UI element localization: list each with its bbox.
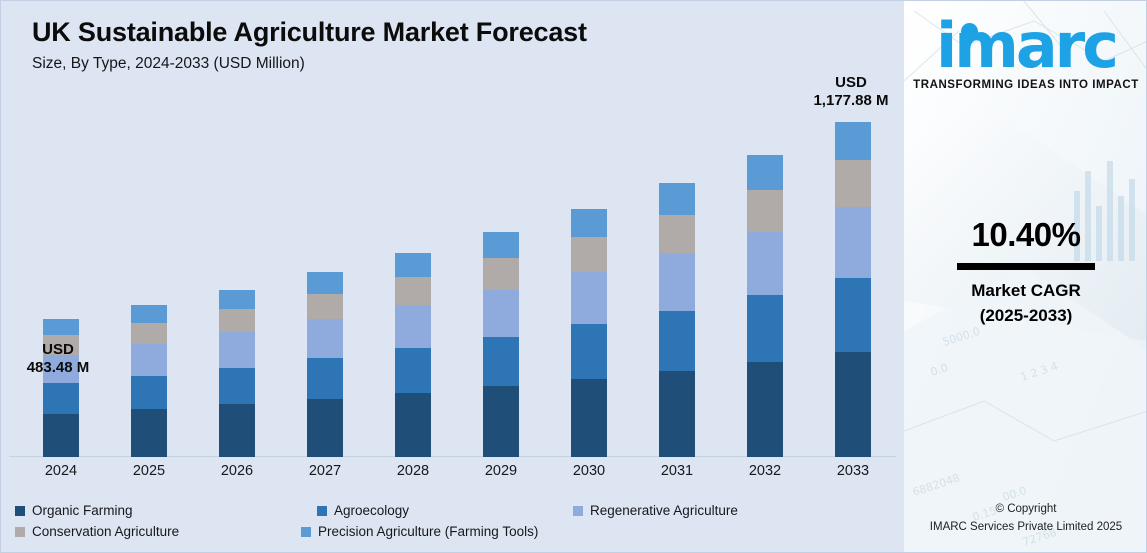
x-axis-label-2031: 2031 bbox=[647, 463, 707, 479]
x-axis-label-2032: 2032 bbox=[735, 463, 795, 479]
bar-segment[interactable] bbox=[747, 362, 783, 457]
bar-stack-2026[interactable] bbox=[219, 290, 255, 457]
bar-segment[interactable] bbox=[747, 155, 783, 190]
bar-segment[interactable] bbox=[747, 190, 783, 232]
page-subtitle: Size, By Type, 2024-2033 (USD Million) bbox=[32, 55, 872, 73]
bar-segment[interactable] bbox=[483, 386, 519, 457]
bar-segment[interactable] bbox=[395, 277, 431, 306]
cagr-divider bbox=[957, 263, 1095, 270]
bar-stack-2030[interactable] bbox=[571, 209, 607, 457]
x-axis-label-2029: 2029 bbox=[471, 463, 531, 479]
cagr-value: 10.40% bbox=[904, 216, 1147, 254]
bar-segment[interactable] bbox=[571, 272, 607, 324]
imarc-wordmark: imarc bbox=[936, 9, 1116, 82]
bar-segment[interactable] bbox=[219, 404, 255, 457]
bar-segment[interactable] bbox=[395, 305, 431, 348]
legend-item[interactable]: Conservation Agriculture bbox=[15, 524, 179, 539]
legend-swatch-icon bbox=[301, 527, 311, 537]
bar-segment[interactable] bbox=[571, 379, 607, 457]
bar-segment[interactable] bbox=[43, 414, 79, 457]
bar-segment[interactable] bbox=[219, 309, 255, 332]
bar-segment[interactable] bbox=[571, 324, 607, 379]
legend-label: Precision Agriculture (Farming Tools) bbox=[318, 524, 538, 539]
bar-stack-2029[interactable] bbox=[483, 232, 519, 457]
bar-segment[interactable] bbox=[307, 399, 343, 457]
title-block: UK Sustainable Agriculture Market Foreca… bbox=[32, 17, 872, 73]
bar-segment[interactable] bbox=[43, 319, 79, 335]
x-axis-label-2027: 2027 bbox=[295, 463, 355, 479]
cagr-block: 10.40% Market CAGR (2025-2033) bbox=[904, 216, 1147, 326]
bar-segment[interactable] bbox=[747, 232, 783, 295]
bar-segment[interactable] bbox=[307, 358, 343, 399]
bar-segment[interactable] bbox=[395, 253, 431, 277]
bar-segment[interactable] bbox=[483, 258, 519, 289]
bar-segment[interactable] bbox=[131, 305, 167, 323]
callout-currency: USD bbox=[0, 341, 123, 359]
plot-area bbox=[1, 101, 904, 457]
bar-segment[interactable] bbox=[307, 294, 343, 320]
copyright-line-1: © Copyright bbox=[904, 501, 1147, 519]
bar-segment[interactable] bbox=[835, 207, 871, 277]
legend-swatch-icon bbox=[15, 527, 25, 537]
x-axis-label-2028: 2028 bbox=[383, 463, 443, 479]
bar-segment[interactable] bbox=[131, 376, 167, 409]
bar-segment[interactable] bbox=[483, 290, 519, 337]
bar-segment[interactable] bbox=[483, 337, 519, 387]
bar-segment[interactable] bbox=[659, 183, 695, 215]
bar-stack-2028[interactable] bbox=[395, 253, 431, 457]
callout-currency: USD bbox=[786, 74, 916, 92]
x-axis-label-2024: 2024 bbox=[31, 463, 91, 479]
chart-legend: Organic FarmingAgroecologyRegenerative A… bbox=[1, 497, 904, 547]
imarc-logo-dot-icon bbox=[961, 23, 978, 40]
bar-segment[interactable] bbox=[395, 393, 431, 457]
brand-panel: 5000.0 0.0 1 2 3 4 6882048 0.15 72768 00… bbox=[904, 1, 1147, 553]
x-axis-labels: 2024202520262027202820292030203120322033 bbox=[1, 463, 904, 489]
bar-stack-2032[interactable] bbox=[747, 155, 783, 457]
cagr-label: Market CAGR bbox=[904, 281, 1147, 301]
bar-segment[interactable] bbox=[219, 290, 255, 309]
bar-stack-2031[interactable] bbox=[659, 183, 695, 457]
bar-segment[interactable] bbox=[659, 371, 695, 457]
bar-segment[interactable] bbox=[131, 323, 167, 344]
callout-amount: 483.48 M bbox=[0, 359, 123, 377]
bar-segment[interactable] bbox=[659, 253, 695, 311]
bar-segment[interactable] bbox=[835, 278, 871, 352]
bar-segment[interactable] bbox=[131, 344, 167, 376]
x-axis-label-2025: 2025 bbox=[119, 463, 179, 479]
x-axis-label-2026: 2026 bbox=[207, 463, 267, 479]
legend-swatch-icon bbox=[317, 506, 327, 516]
bar-segment[interactable] bbox=[307, 319, 343, 358]
bar-segment[interactable] bbox=[219, 368, 255, 405]
bar-stack-2025[interactable] bbox=[131, 305, 167, 457]
value-callout-2024: USD 483.48 M bbox=[0, 341, 123, 376]
bar-stack-2033[interactable] bbox=[835, 122, 871, 457]
chart-panel: UK Sustainable Agriculture Market Foreca… bbox=[1, 1, 904, 553]
chart-infographic: UK Sustainable Agriculture Market Foreca… bbox=[0, 0, 1147, 553]
bar-segment[interactable] bbox=[131, 409, 167, 457]
bar-stack-2027[interactable] bbox=[307, 272, 343, 457]
legend-swatch-icon bbox=[573, 506, 583, 516]
copyright-line-2: IMARC Services Private Limited 2025 bbox=[904, 519, 1147, 537]
x-axis-label-2033: 2033 bbox=[823, 463, 883, 479]
bar-segment[interactable] bbox=[571, 237, 607, 272]
legend-label: Agroecology bbox=[334, 503, 409, 518]
bar-segment[interactable] bbox=[219, 332, 255, 367]
legend-label: Organic Farming bbox=[32, 503, 133, 518]
page-title: UK Sustainable Agriculture Market Foreca… bbox=[32, 17, 872, 48]
cagr-period: (2025-2033) bbox=[904, 306, 1147, 326]
value-callout-2033: USD 1,177.88 M bbox=[786, 74, 916, 109]
legend-item[interactable]: Precision Agriculture (Farming Tools) bbox=[301, 524, 538, 539]
legend-item[interactable]: Organic Farming bbox=[15, 503, 133, 518]
bar-segment[interactable] bbox=[835, 352, 871, 457]
bar-segment[interactable] bbox=[307, 272, 343, 293]
callout-amount: 1,177.88 M bbox=[786, 92, 916, 110]
legend-label: Conservation Agriculture bbox=[32, 524, 179, 539]
bar-segment[interactable] bbox=[395, 348, 431, 393]
copyright-notice: © Copyright IMARC Services Private Limit… bbox=[904, 501, 1147, 537]
imarc-logo: imarc TRANSFORMING IDEAS INTO IMPACT bbox=[904, 17, 1147, 91]
legend-item[interactable]: Agroecology bbox=[317, 503, 409, 518]
bar-segment[interactable] bbox=[659, 311, 695, 371]
bar-segment[interactable] bbox=[835, 160, 871, 207]
bar-segment[interactable] bbox=[659, 215, 695, 253]
bar-segment[interactable] bbox=[747, 295, 783, 362]
bar-segment[interactable] bbox=[835, 122, 871, 161]
bar-segment[interactable] bbox=[483, 232, 519, 258]
bar-segment[interactable] bbox=[43, 383, 79, 413]
bar-stack-2024[interactable] bbox=[43, 319, 79, 457]
legend-swatch-icon bbox=[15, 506, 25, 516]
bar-segment[interactable] bbox=[571, 209, 607, 238]
legend-item[interactable]: Regenerative Agriculture bbox=[573, 503, 738, 518]
x-axis-label-2030: 2030 bbox=[559, 463, 619, 479]
legend-label: Regenerative Agriculture bbox=[590, 503, 738, 518]
